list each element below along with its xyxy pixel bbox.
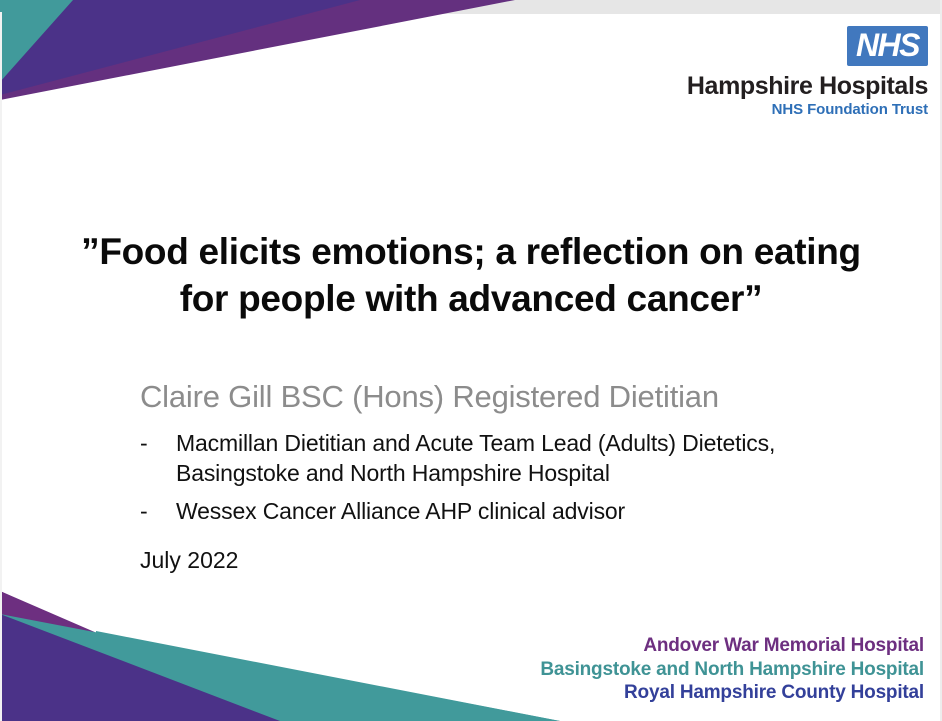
presenter-role-list: - Macmillan Dietitian and Acute Team Lea… [140, 428, 860, 533]
footer-hospital-list: Andover War Memorial Hospital Basingstok… [540, 634, 924, 704]
footer-hospital-basingstoke: Basingstoke and North Hampshire Hospital [540, 658, 924, 681]
slide-subtitle-presenter: Claire Gill BSC (Hons) Registered Dietit… [140, 378, 840, 415]
footer-hospital-royal-hampshire: Royal Hampshire County Hospital [540, 681, 924, 704]
slide-title: ”Food elicits emotions; a reflection on … [60, 228, 882, 323]
bullet-marker-icon: - [140, 496, 176, 526]
slide-content: ”Food elicits emotions; a reflection on … [0, 0, 942, 721]
list-item: - Macmillan Dietitian and Acute Team Lea… [140, 428, 860, 489]
footer-hospital-andover: Andover War Memorial Hospital [540, 634, 924, 657]
list-item: - Wessex Cancer Alliance AHP clinical ad… [140, 496, 860, 526]
bullet-text: Macmillan Dietitian and Acute Team Lead … [176, 428, 860, 489]
presentation-slide: NHS Hampshire Hospitals NHS Foundation T… [0, 0, 942, 721]
bullet-marker-icon: - [140, 428, 176, 458]
bullet-text: Wessex Cancer Alliance AHP clinical advi… [176, 496, 860, 526]
slide-date: July 2022 [140, 546, 238, 576]
